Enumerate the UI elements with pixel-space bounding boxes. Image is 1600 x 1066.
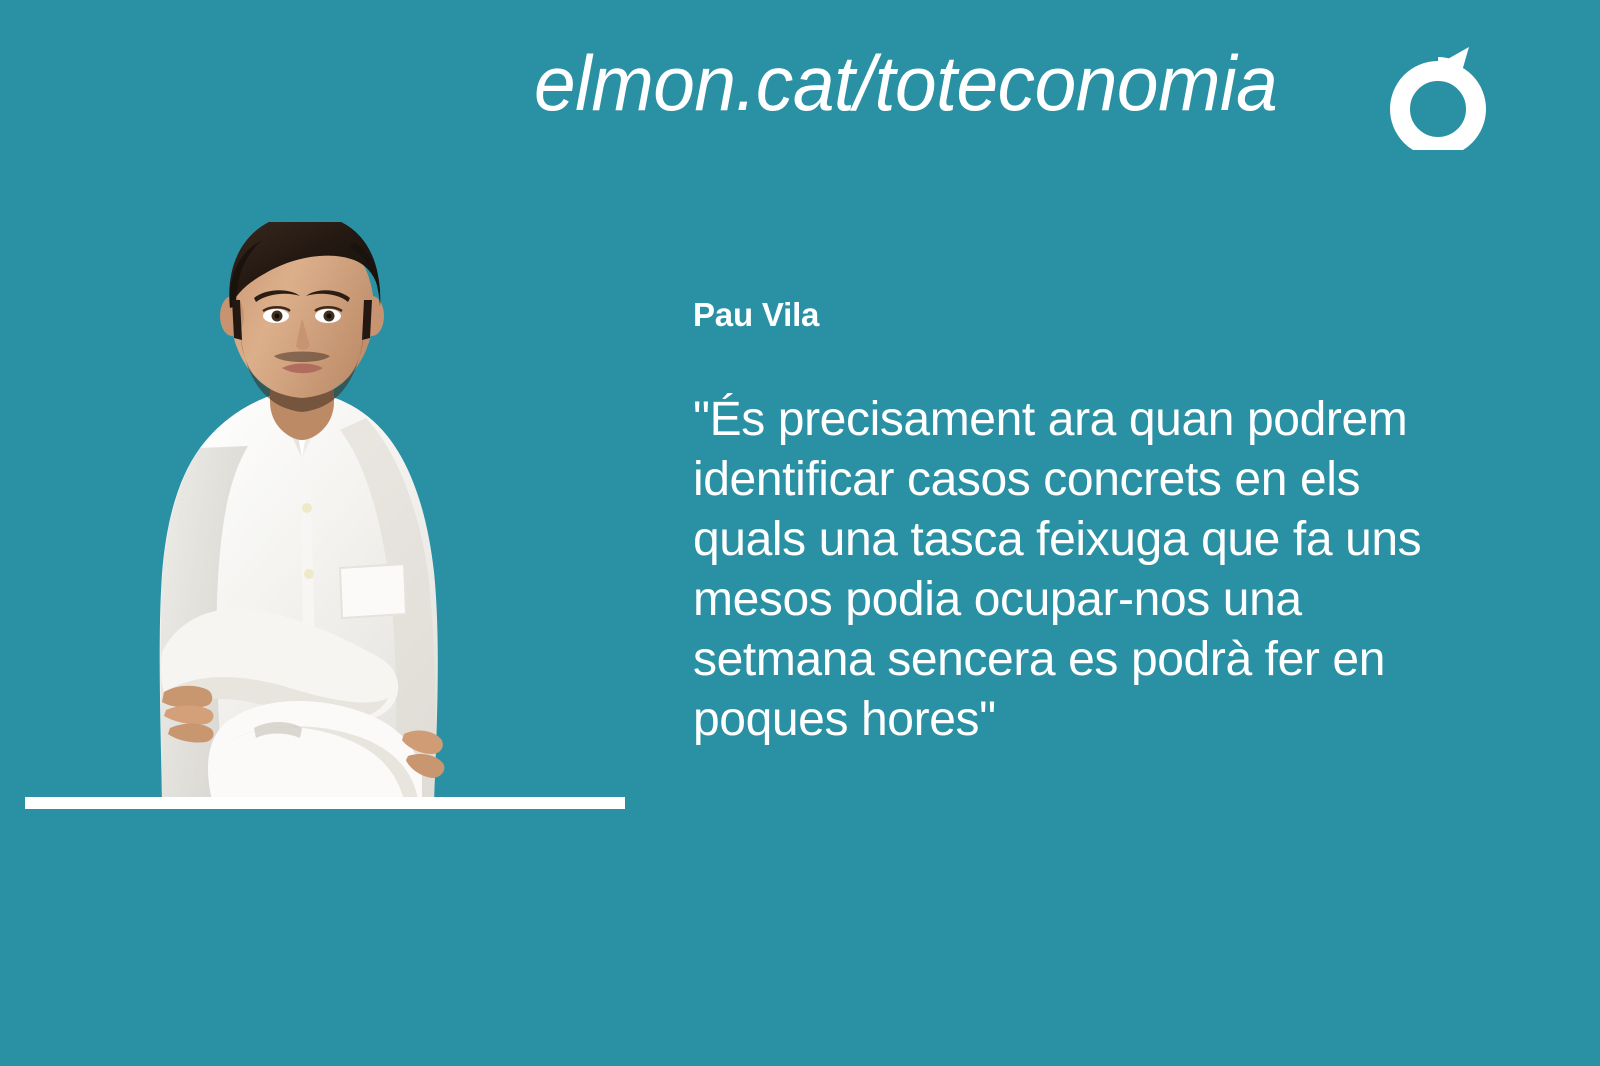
quote-line: identificar casos concrets en els — [693, 453, 1360, 506]
quote-line: "És precisament ara quan podrem — [693, 393, 1407, 446]
elmon-circle-logo-icon — [1386, 38, 1490, 150]
speaker-name: Pau Vila — [693, 296, 1483, 334]
quote-card: elmon.cat/toteconomia — [0, 0, 1600, 1066]
speaker-portrait-photo — [104, 222, 484, 800]
quote-line: setmana sencera es podrà fer en — [693, 633, 1385, 686]
quote-line: mesos podia ocupar-nos una — [693, 573, 1302, 626]
quote-line: poques hores" — [693, 693, 996, 746]
card-header: elmon.cat/toteconomia — [0, 0, 1600, 175]
quote-block: Pau Vila "És precisament ara quan podrem… — [693, 296, 1483, 750]
site-url-text: elmon.cat/toteconomia — [534, 44, 1277, 122]
quote-text: "És precisament ara quan podremidentific… — [693, 390, 1483, 750]
quote-line: quals una tasca feixuga que fa uns — [693, 513, 1421, 566]
white-underline-bar — [25, 797, 625, 809]
